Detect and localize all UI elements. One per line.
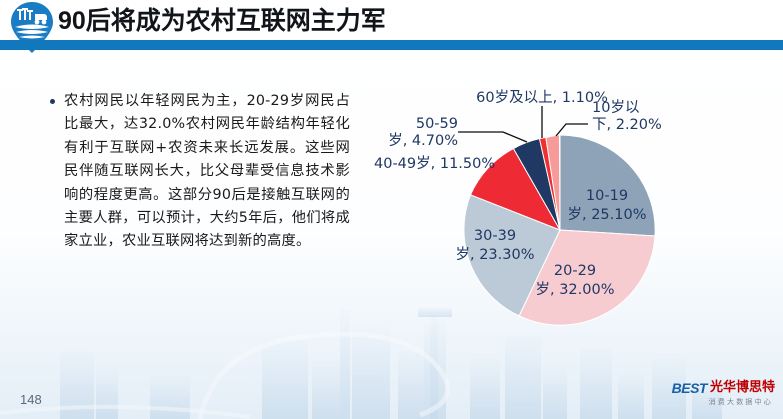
- logo-tagline: 消费大数据中心: [655, 397, 775, 407]
- page-number: 148: [20, 392, 42, 407]
- pie-label-30-39-line2: 岁, 23.30%: [455, 246, 534, 263]
- bullet-dot-icon: [50, 99, 55, 104]
- body-paragraph: 农村网民以年轻网民为主，20-29岁网民占比最大，达32.0%农村网民年龄结构年…: [64, 90, 350, 254]
- pie-label-40-49: 40-49岁, 11.50%: [374, 155, 495, 172]
- slide: 90后将成为农村互联网主力军 农村网民以年轻网民为主，20-29岁网民占比最大，…: [0, 0, 783, 419]
- pie-label-50-59-line2: 岁, 4.70%: [388, 132, 458, 149]
- leader-line-50-59: [458, 132, 527, 142]
- pie-label-under-10-line2: 下, 2.20%: [592, 117, 662, 133]
- logo-chinese-name: 光华博思特: [710, 381, 775, 395]
- logo-best-text: BEST: [672, 381, 707, 395]
- pie-label-20-29-line1: 20-29: [554, 263, 596, 279]
- body-text-block: 农村网民以年轻网民为主，20-29岁网民占比最大，达32.0%农村网民年龄结构年…: [50, 90, 350, 254]
- slide-header: 90后将成为农村互联网主力军: [0, 0, 783, 56]
- pie-label-20-29-line2: 岁, 32.00%: [535, 281, 614, 298]
- pie-label-10-19-line2: 岁, 25.10%: [567, 206, 646, 223]
- pie-label-30-39-line1: 30-39: [474, 228, 516, 244]
- pie-label-60-and-above: 60岁及以上, 1.10%: [476, 89, 608, 106]
- company-logo: BEST 光华博思特 消费大数据中心: [655, 379, 775, 413]
- pie-label-50-59-line1: 50-59: [416, 116, 458, 132]
- page-title: 90后将成为农村互联网主力军: [58, 4, 386, 38]
- pie-label-10-19-line1: 10-19: [586, 188, 628, 204]
- age-distribution-pie-chart: 50-59 岁, 4.70% 60岁及以上, 1.10% 10岁以 下, 2.2…: [370, 80, 770, 340]
- leader-line-under-10: [556, 124, 588, 136]
- pie-label-under-10-line1: 10岁以: [592, 99, 639, 116]
- title-underline-bar: [0, 40, 783, 50]
